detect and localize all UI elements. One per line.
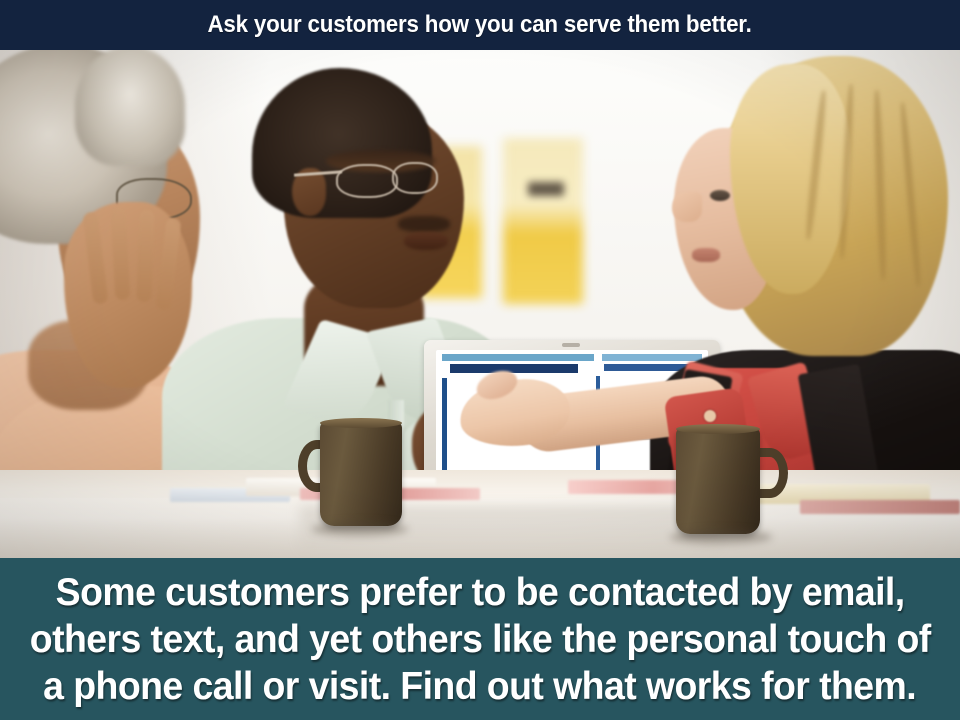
top-banner-text: Ask your customers how you can serve the… — [208, 11, 752, 39]
mug-shadow — [670, 530, 772, 544]
cuff-button — [704, 410, 716, 422]
bottom-caption-bar: Some customers prefer to be contacted by… — [0, 558, 960, 720]
man-mustache — [398, 216, 450, 232]
video-slide: Ask your customers how you can serve the… — [0, 0, 960, 720]
mug-rim — [320, 418, 402, 428]
elderly-woman-hair-top — [75, 50, 185, 166]
mug-body — [320, 422, 402, 526]
blonde-woman-lips — [692, 248, 720, 262]
caption-line-3: a phone call or visit. Find out what wor… — [44, 663, 917, 710]
window-titlebar-left — [442, 354, 594, 361]
mug-rim — [676, 424, 760, 434]
blonde-woman-eye — [710, 190, 730, 201]
mug-body — [676, 428, 760, 534]
elderly-woman-finger — [136, 210, 154, 302]
coffee-mug-left — [302, 422, 406, 530]
man-glasses-lens-right — [392, 162, 438, 194]
caption-line-1: Some customers prefer to be contacted by… — [56, 569, 905, 616]
mug-shadow — [312, 522, 408, 536]
blonde-woman-nose — [672, 192, 702, 222]
top-banner: Ask your customers how you can serve the… — [0, 0, 960, 50]
laptop-camera — [562, 343, 580, 347]
man-mouth — [404, 232, 448, 250]
caption-line-2: others text, and yet others like the per… — [30, 616, 931, 663]
coffee-mug-right — [676, 428, 788, 540]
paper-document — [800, 500, 960, 514]
window-toolbar-left — [450, 364, 578, 373]
man-glasses-lens-left — [336, 164, 398, 198]
man-hair — [252, 68, 432, 218]
meeting-photo — [0, 50, 960, 558]
